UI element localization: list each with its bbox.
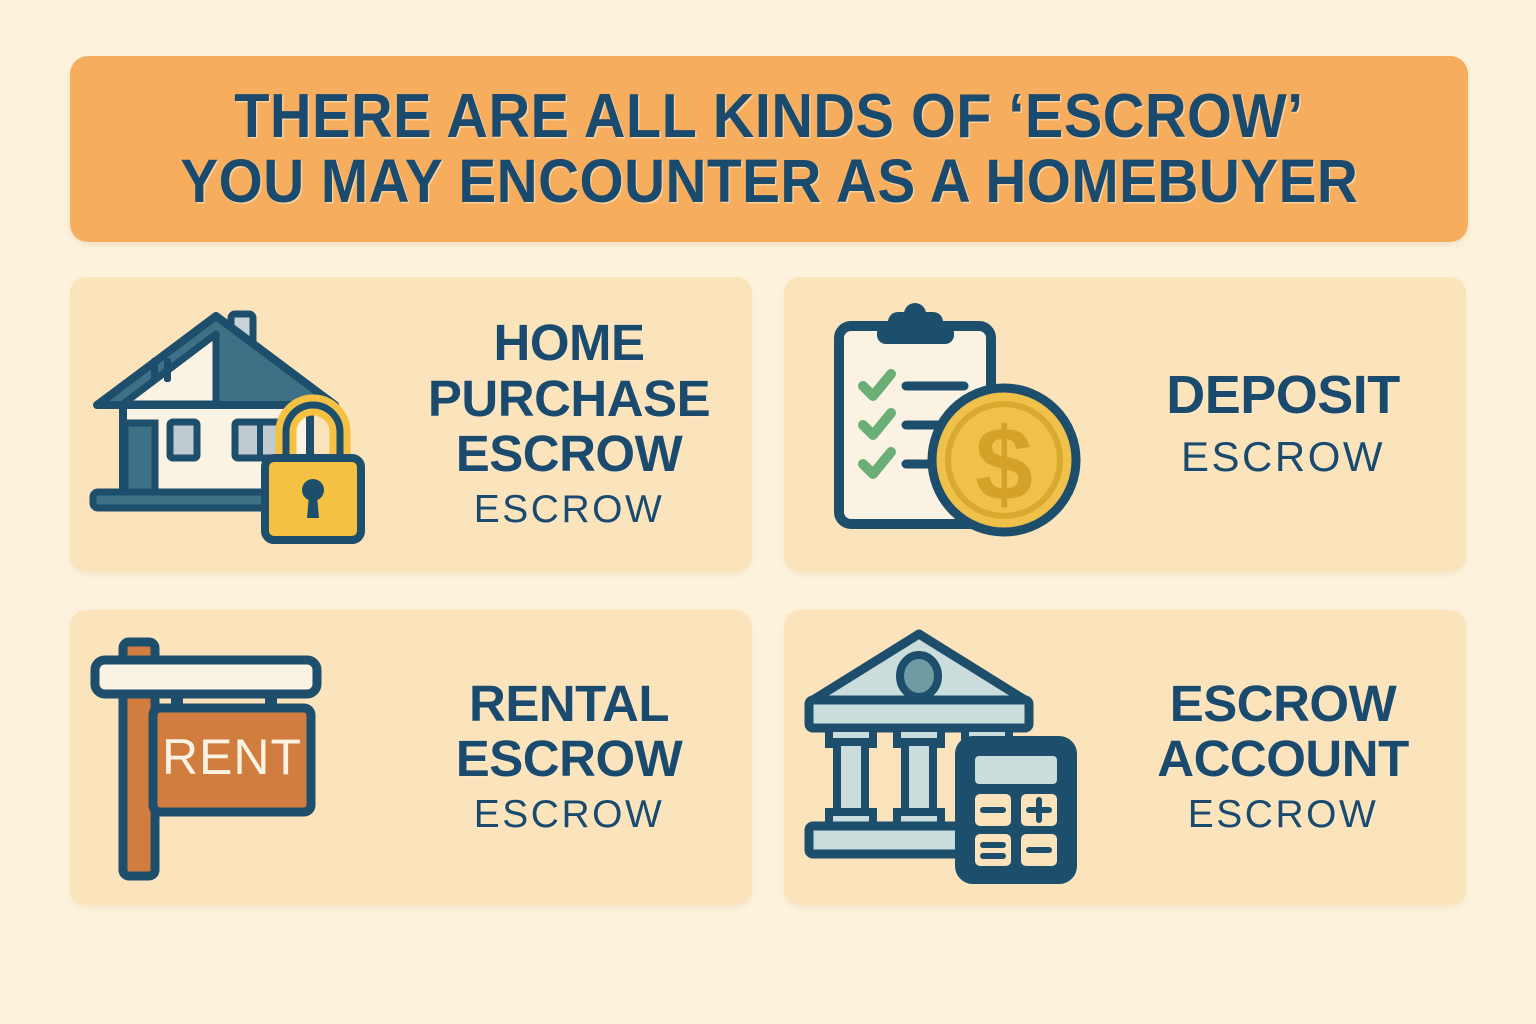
card-deposit-escrow[interactable]: $ DEPOSIT ESCROW [784,277,1466,572]
svg-text:$: $ [975,407,1033,523]
card-home-purchase-escrow[interactable]: HOME PURCHASE ESCROW ESCROW [70,277,752,572]
card-title-line-1: HOME [428,315,710,370]
card-title-line-3: ESCROW [428,426,710,481]
card-title-line-1: ESCROW [1157,676,1408,731]
card-title: DEPOSIT [1166,366,1400,424]
card-title-line-2: ESCROW [456,731,683,786]
card-subtitle: ESCROW [1188,792,1379,839]
header-title-line-2: YOU MAY ENCOUNTER AS A HOMEBUYER [180,150,1358,213]
card-subtitle: ESCROW [474,487,665,534]
card-title: ESCROW ACCOUNT [1157,676,1408,786]
header-banner: THERE ARE ALL KINDS OF ‘ESCROW’ YOU MAY … [70,56,1468,242]
bank-with-calculator-icon [784,610,1114,905]
card-home-purchase-escrow-text: HOME PURCHASE ESCROW ESCROW [400,315,752,533]
card-title: HOME PURCHASE ESCROW [428,315,710,480]
house-with-padlock-icon [70,277,400,572]
card-title-line-1: RENTAL [456,676,683,731]
card-title-line-1: DEPOSIT [1166,366,1400,424]
card-deposit-escrow-text: DEPOSIT ESCROW [1114,366,1466,483]
card-subtitle: ESCROW [474,792,665,839]
card-escrow-account-text: ESCROW ACCOUNT ESCROW [1114,676,1466,839]
card-title: RENTAL ESCROW [456,676,683,786]
rent-sign-icon: RENT [70,610,400,905]
card-title-line-2: PURCHASE [428,371,710,426]
card-subtitle: ESCROW [1181,432,1385,482]
card-escrow-account[interactable]: ESCROW ACCOUNT ESCROW [784,610,1466,905]
card-rental-escrow-text: RENTAL ESCROW ESCROW [400,676,752,839]
header-title-line-1: THERE ARE ALL KINDS OF ‘ESCROW’ [234,85,1303,149]
escrow-type-card-grid: HOME PURCHASE ESCROW ESCROW [70,277,1466,905]
card-title-line-2: ACCOUNT [1157,731,1408,786]
clipboard-with-coin-icon: $ [784,277,1114,572]
svg-text:RENT: RENT [162,729,302,785]
card-rental-escrow[interactable]: RENT RENTAL ESCROW ESCROW [70,610,752,905]
